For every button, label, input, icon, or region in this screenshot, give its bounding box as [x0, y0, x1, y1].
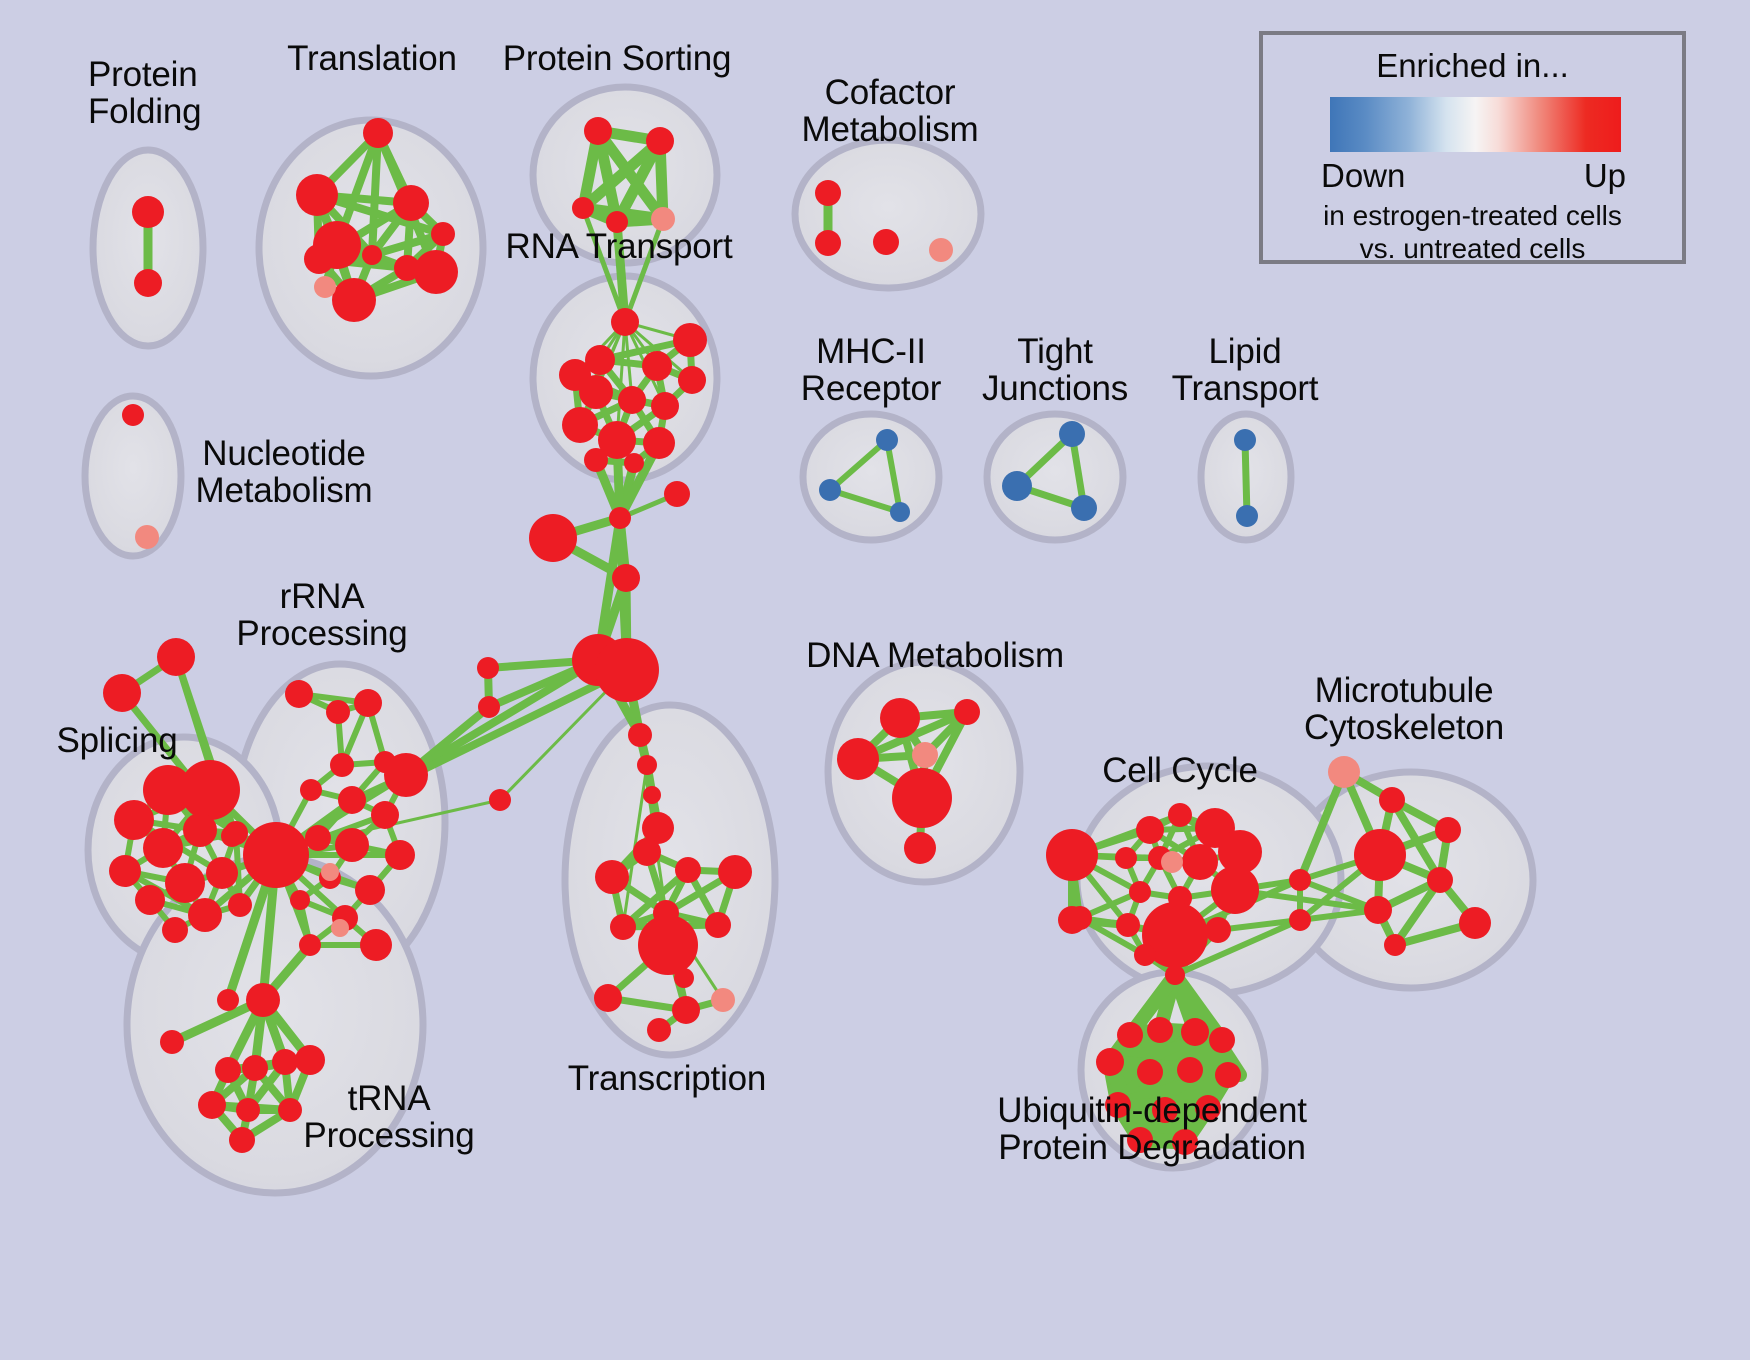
- cluster-label-rrna-processing: rRNA Processing: [236, 578, 407, 652]
- cluster-label-tight-junctions: Tight Junctions: [982, 333, 1128, 407]
- cluster-label-protein-sorting: Protein Sorting: [503, 40, 732, 77]
- cluster-label-rna-transport: RNA Transport: [506, 228, 733, 265]
- cluster-label-protein-folding: Protein Folding: [88, 56, 201, 130]
- cluster-label-transcription: Transcription: [568, 1060, 766, 1097]
- legend-color-scale: [1330, 97, 1621, 152]
- cluster-label-trna-processing: tRNA Processing: [303, 1080, 474, 1154]
- cluster-label-translation: Translation: [287, 40, 457, 77]
- cluster-label-cell-cycle: Cell Cycle: [1102, 752, 1258, 789]
- halo-mhc: [803, 414, 939, 540]
- legend-title: Enriched in...: [1263, 47, 1682, 85]
- cluster-label-dna-metabolism: DNA Metabolism: [806, 637, 1064, 674]
- legend-caption-line-2: vs. untreated cells: [1263, 233, 1682, 265]
- legend-high-label: Up: [1584, 157, 1626, 195]
- cluster-label-nucleotide-metabolism: Nucleotide Metabolism: [196, 435, 373, 509]
- cluster-label-mhc-ii-receptor: MHC-II Receptor: [801, 333, 941, 407]
- cluster-label-ubiquitin-degradation: Ubiquitin-dependent Protein Degradation: [997, 1092, 1307, 1166]
- cluster-label-splicing: Splicing: [57, 722, 178, 759]
- legend-low-label: Down: [1321, 157, 1405, 195]
- legend-box: Enriched in... Down Up in estrogen-treat…: [1259, 31, 1686, 264]
- cluster-label-lipid-transport: Lipid Transport: [1172, 333, 1319, 407]
- cluster-label-cofactor-metabolism: Cofactor Metabolism: [802, 74, 979, 148]
- enrichment-map-figure: Protein Folding Translation Protein Sort…: [0, 0, 1750, 1360]
- legend-caption-line-1: in estrogen-treated cells: [1263, 200, 1682, 232]
- cluster-label-microtubule-cytoskeleton: Microtubule Cytoskeleton: [1304, 672, 1504, 746]
- halo-cofactor: [795, 140, 981, 288]
